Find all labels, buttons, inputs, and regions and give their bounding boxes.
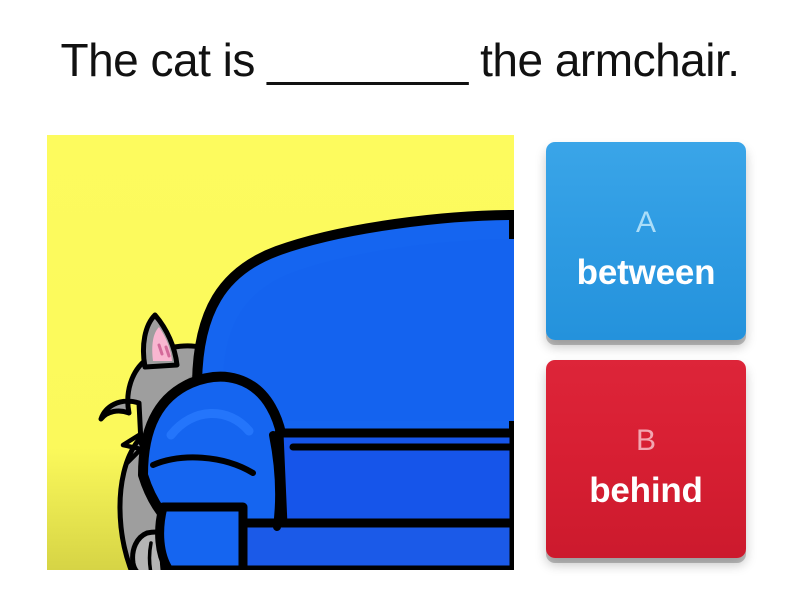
answer-option-a-label: between bbox=[546, 254, 746, 293]
question-bar: The cat is ________ the armchair. bbox=[0, 0, 800, 120]
answer-option-a-letter: A bbox=[546, 208, 746, 238]
question-image-panel bbox=[47, 135, 514, 570]
answer-option-b-label: behind bbox=[546, 472, 746, 511]
answer-option-b[interactable]: B behind bbox=[546, 360, 746, 558]
answer-options-list: A between B behind bbox=[544, 140, 756, 570]
answer-option-b-letter: B bbox=[546, 426, 746, 456]
answer-option-a[interactable]: A between bbox=[546, 142, 746, 340]
question-text: The cat is ________ the armchair. bbox=[60, 36, 739, 84]
cat-behind-armchair-illustration bbox=[47, 135, 514, 570]
